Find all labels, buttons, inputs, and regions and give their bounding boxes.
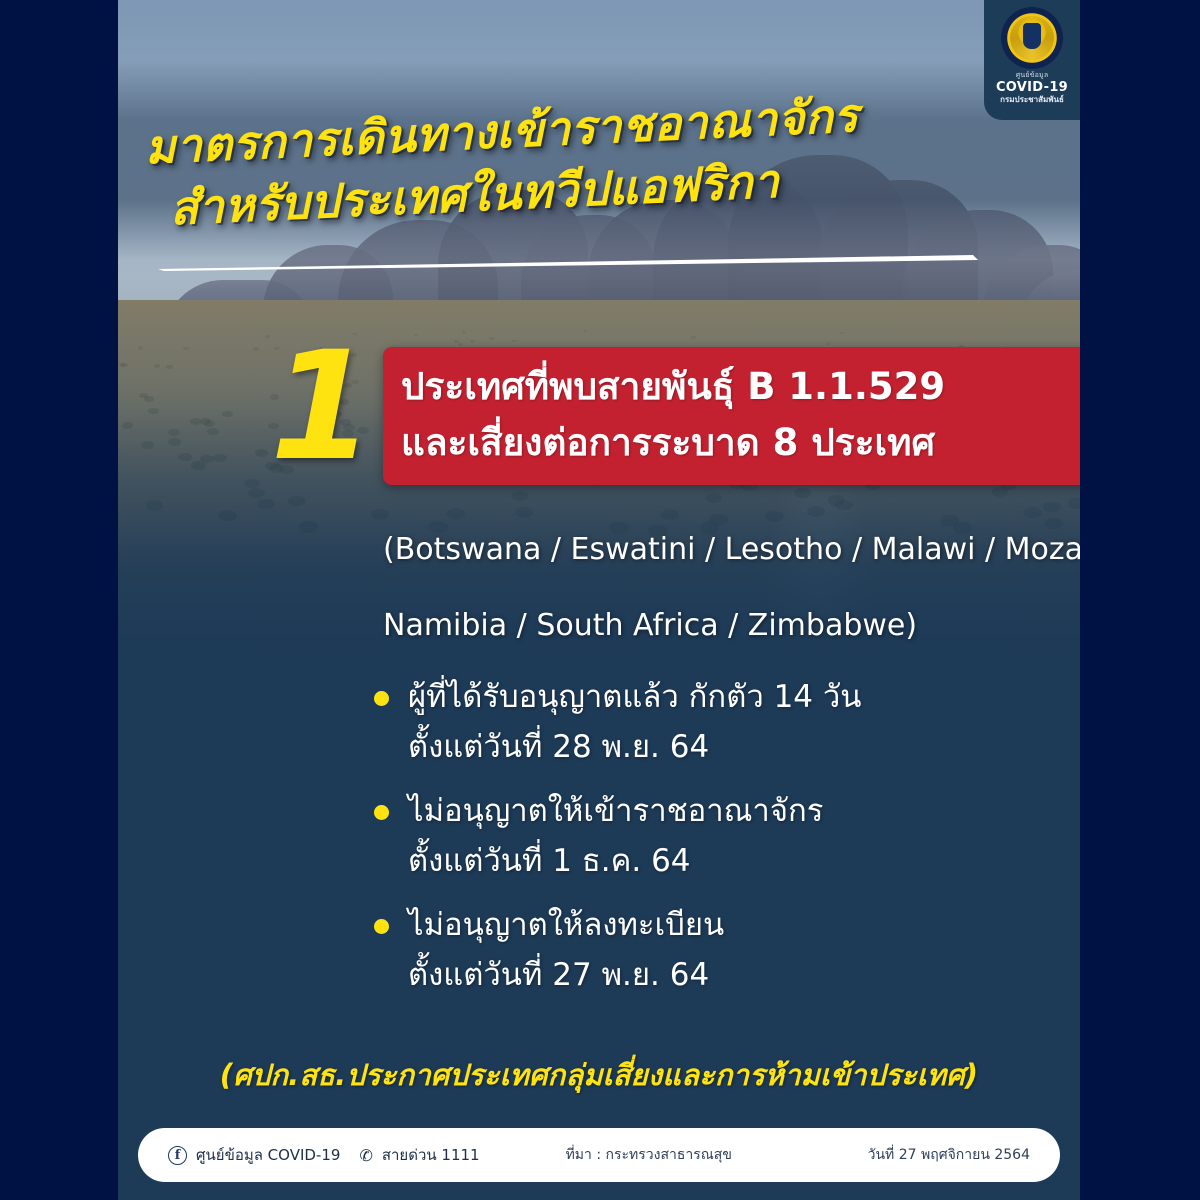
bullet-1-line-1: ผู้ที่ได้รับอนุญาตแล้ว กักตัว 14 วัน: [408, 672, 1080, 722]
measure-bullet-list: ผู้ที่ได้รับอนุญาตแล้ว กักตัว 14 วัน ตั้…: [368, 672, 1080, 1014]
source-note: (ศปก.สธ.ประกาศประเทศกลุ่มเสี่ยงและการห้า…: [118, 1052, 1080, 1098]
source-note-text: (ศปก.สธ.ประกาศประเทศกลุ่มเสี่ยงและการห้า…: [220, 1058, 979, 1092]
badge-line-1: ศูนย์ข้อมูล: [984, 71, 1080, 80]
country-list-line-2: Namibia / South Africa / Zimbabwe): [383, 588, 1080, 664]
section-number: 1: [270, 332, 374, 482]
list-item: ผู้ที่ได้รับอนุญาตแล้ว กักตัว 14 วัน ตั้…: [368, 672, 1080, 772]
covid19-info-center-badge: ศูนย์ข้อมูล COVID-19 กรมประชาสัมพันธ์: [984, 0, 1080, 120]
bullet-3-line-2: ตั้งแต่วันที่ 27 พ.ย. 64: [408, 950, 1080, 1000]
bullet-dot-icon: [374, 919, 389, 934]
title-underline-brush-stroke: [158, 255, 978, 271]
list-item: ไม่อนุญาตให้ลงทะเบียน ตั้งแต่วันที่ 27 พ…: [368, 900, 1080, 1000]
footer-bar: f ศูนย์ข้อมูล COVID-19 ✆ สายด่วน 1111 ที…: [138, 1128, 1060, 1182]
footer-date: วันที่ 27 พฤศจิกายน 2564: [868, 1144, 1030, 1166]
footer-hotline: สายด่วน 1111: [382, 1143, 480, 1167]
country-list: (Botswana / Eswatini / Lesotho / Malawi …: [383, 512, 1080, 664]
footer-left-group: f ศูนย์ข้อมูล COVID-19 ✆ สายด่วน 1111: [168, 1143, 480, 1167]
red-banner: ประเทศที่พบสายพันธุ์ B 1.1.529 และเสี่ยง…: [383, 347, 1080, 485]
thai-government-emblem-icon: [1001, 7, 1063, 69]
bullet-3-line-1: ไม่อนุญาตให้ลงทะเบียน: [408, 900, 1080, 950]
bullet-dot-icon: [374, 805, 389, 820]
red-banner-line-1: ประเทศที่พบสายพันธุ์ B 1.1.529: [401, 359, 1080, 415]
badge-line-3: กรมประชาสัมพันธ์: [984, 95, 1080, 105]
bullet-dot-icon: [374, 691, 389, 706]
list-item: ไม่อนุญาตให้เข้าราชอาณาจักร ตั้งแต่วันที…: [368, 786, 1080, 886]
phone-icon: ✆: [359, 1146, 372, 1165]
red-banner-line-2: และเสี่ยงต่อการระบาด 8 ประเทศ: [401, 415, 1080, 471]
poster-root: ศูนย์ข้อมูล COVID-19 กรมประชาสัมพันธ์ มา…: [0, 0, 1200, 1200]
country-list-line-1: (Botswana / Eswatini / Lesotho / Malawi …: [383, 512, 1080, 588]
facebook-f-icon[interactable]: f: [168, 1146, 187, 1165]
footer-source: ที่มา : กระทรวงสาธารณสุข: [566, 1144, 732, 1166]
bullet-2-line-1: ไม่อนุญาตให้เข้าราชอาณาจักร: [408, 786, 1080, 836]
footer-page-name: ศูนย์ข้อมูล COVID-19: [196, 1143, 340, 1167]
content-card: ศูนย์ข้อมูล COVID-19 กรมประชาสัมพันธ์ มา…: [118, 0, 1080, 1200]
bullet-2-line-2: ตั้งแต่วันที่ 1 ธ.ค. 64: [408, 836, 1080, 886]
bullet-1-line-2: ตั้งแต่วันที่ 28 พ.ย. 64: [408, 722, 1080, 772]
badge-line-2: COVID-19: [984, 80, 1080, 95]
